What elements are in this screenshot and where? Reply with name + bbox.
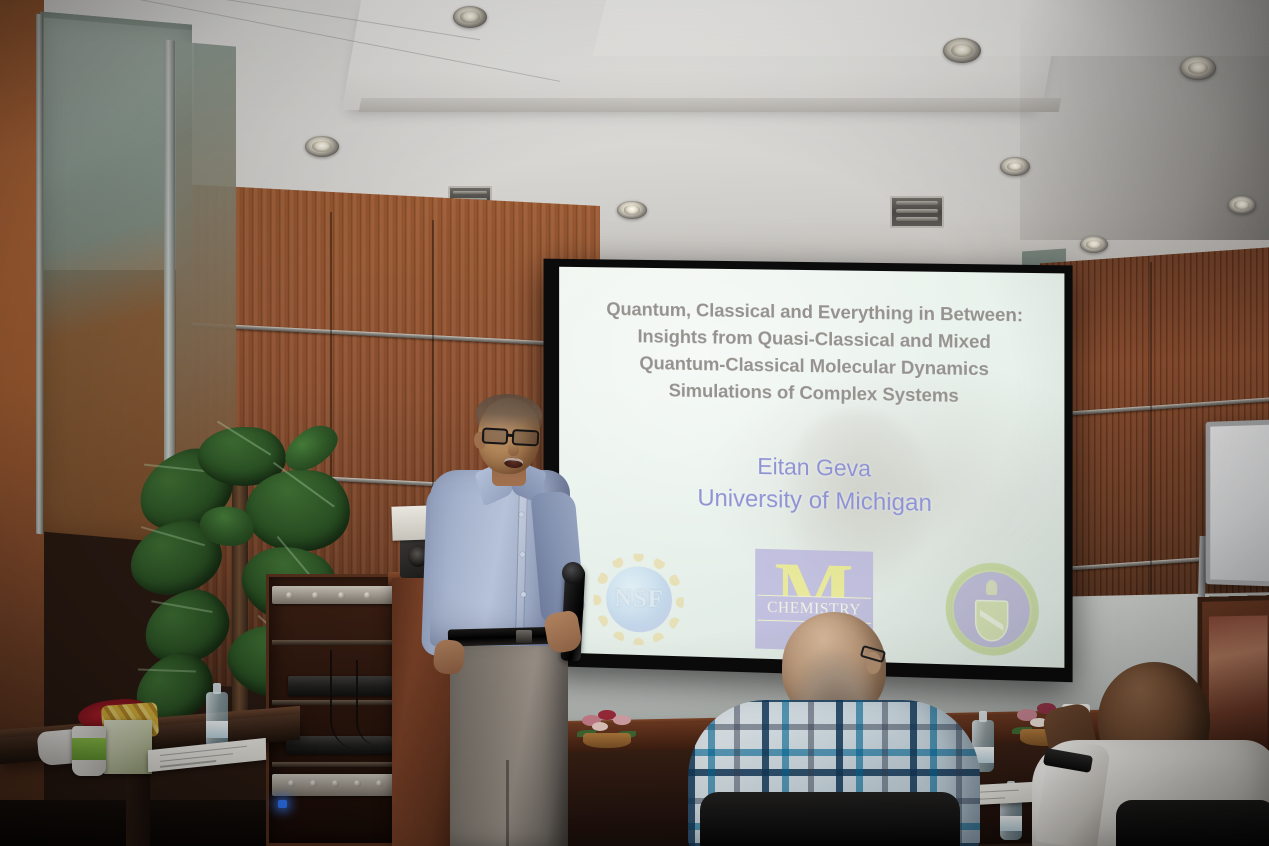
office-chair <box>700 792 960 846</box>
gift-box <box>104 720 152 774</box>
belt-buckle <box>516 630 532 643</box>
ceiling-soffit-edge <box>359 98 1061 112</box>
air-vent <box>890 196 944 228</box>
downlight-icon <box>943 38 981 63</box>
shirt-button <box>520 552 525 557</box>
power-led-indicator <box>278 800 287 808</box>
plant-leaf <box>277 418 345 478</box>
av-mixer[interactable] <box>272 774 400 796</box>
water-bottle <box>206 692 228 748</box>
downlight-icon <box>617 201 647 219</box>
downlight-icon <box>453 6 487 28</box>
doe-seal-logo <box>945 562 1038 657</box>
nsf-logo-text: NSF <box>594 553 685 647</box>
presenter-left-hand <box>432 639 465 676</box>
glass-mullion <box>36 14 43 535</box>
shirt-button <box>521 592 526 597</box>
downlight-icon <box>305 136 339 157</box>
flower-basket <box>576 706 638 748</box>
bottle-label <box>1000 816 1022 831</box>
rack-shelf <box>272 640 400 645</box>
av-amplifier[interactable] <box>272 586 400 604</box>
downlight-icon <box>1180 56 1216 80</box>
cable <box>356 660 380 746</box>
trouser-seam <box>506 760 509 846</box>
downlight-icon <box>1080 236 1108 253</box>
office-chair <box>1116 800 1269 846</box>
slide-title: Quantum, Classical and Everything in Bet… <box>584 296 1046 411</box>
doe-shield-icon <box>975 600 1009 642</box>
eyeglasses-icon <box>482 427 543 447</box>
projection-screen: Quantum, Classical and Everything in Bet… <box>559 267 1064 668</box>
seminar-room-photo: Quantum, Classical and Everything in Bet… <box>0 0 1269 846</box>
slide-author-block: Eitan Geva University of Michigan <box>589 447 1044 524</box>
presenter-trousers <box>450 636 568 846</box>
basket <box>583 733 630 748</box>
coffee-cup-band <box>72 738 106 760</box>
bottle-label <box>206 721 228 738</box>
doe-eagle-icon <box>986 580 997 595</box>
downlight-icon <box>1000 157 1030 176</box>
downlight-icon <box>1228 196 1256 214</box>
rack-shelf <box>272 762 400 767</box>
shirt-button <box>519 512 524 517</box>
whiteboard <box>1206 418 1269 588</box>
nsf-logo: NSF <box>594 553 685 647</box>
